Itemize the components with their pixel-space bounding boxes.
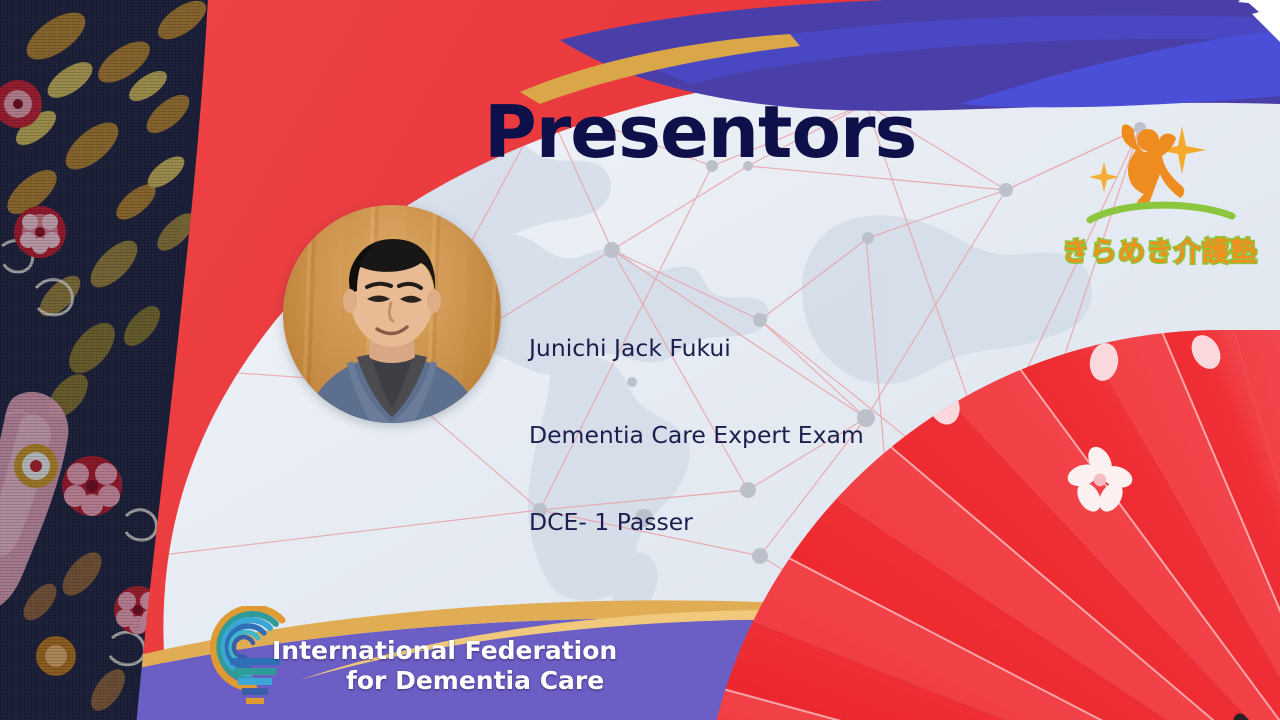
presentation-slide: Presentors (0, 0, 1280, 720)
ifdc-logo-text: International Federation for Dementia Ca… (272, 636, 617, 696)
green-arc-icon (1090, 205, 1232, 220)
ifdc-line-2: for Dementia Care (272, 666, 617, 696)
ifdc-line-1: International Federation (272, 636, 617, 666)
kirameki-kaigojuku-logo: きらめき介護塾 (1060, 112, 1260, 267)
presenter-info: Junichi Jack Fukui Dementia Care Expert … (529, 276, 864, 595)
page-title: Presentors (484, 96, 916, 168)
presenter-avatar (283, 205, 501, 423)
kirameki-japanese-text: きらめき介護塾 (1060, 230, 1260, 269)
presenter-rank: DCE- 1 Passer (529, 508, 864, 537)
presenter-name: Junichi Jack Fukui (529, 334, 864, 363)
presenter-credential: Dementia Care Expert Exam (529, 421, 864, 450)
dancing-person-icon (1122, 124, 1185, 206)
